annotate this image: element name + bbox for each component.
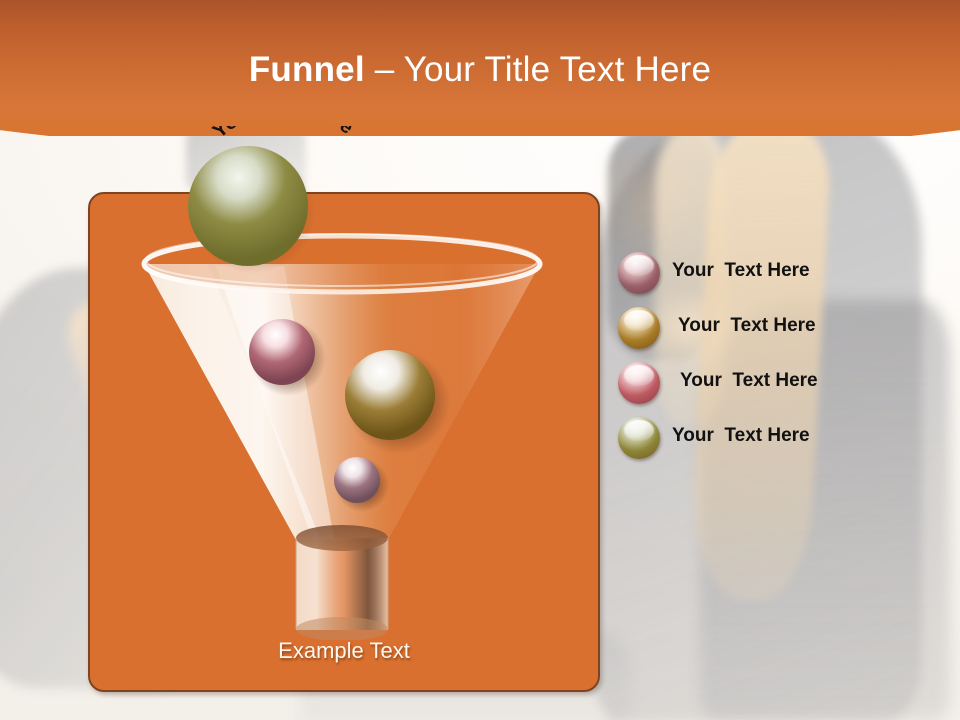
funnel-curved-label-text: Your Text Here <box>209 126 358 143</box>
legend-bullet-icon-1 <box>618 252 660 294</box>
legend-bullet-icon-3 <box>618 362 660 404</box>
legend-bullet-icon-4 <box>618 417 660 459</box>
legend-item-3[interactable]: Your Text Here <box>618 362 928 417</box>
legend-item-4[interactable]: Your Text Here <box>618 417 928 472</box>
legend-label-1: Your Text Here <box>672 260 810 282</box>
legend-label-4: Your Text Here <box>672 425 810 447</box>
page-title-bold: Funnel <box>249 50 365 89</box>
legend-bullet-icon-2 <box>618 307 660 349</box>
funnel-curved-label: Your Text Here <box>186 126 386 192</box>
legend-item-2[interactable]: Your Text Here <box>618 307 928 362</box>
slide-canvas: Funnel – Your Title Text Here Example Te… <box>0 0 960 720</box>
page-title: Funnel – Your Title Text Here <box>0 50 960 90</box>
legend-item-1[interactable]: Your Text Here <box>618 252 928 307</box>
legend-label-2: Your Text Here <box>678 315 816 337</box>
legend-list: Your Text Here Your Text Here Your Text … <box>618 252 928 472</box>
page-title-rest: – Your Title Text Here <box>365 50 711 89</box>
content-panel[interactable]: Example Text <box>88 192 600 692</box>
panel-caption: Example Text <box>90 638 598 664</box>
legend-label-3: Your Text Here <box>680 370 818 392</box>
